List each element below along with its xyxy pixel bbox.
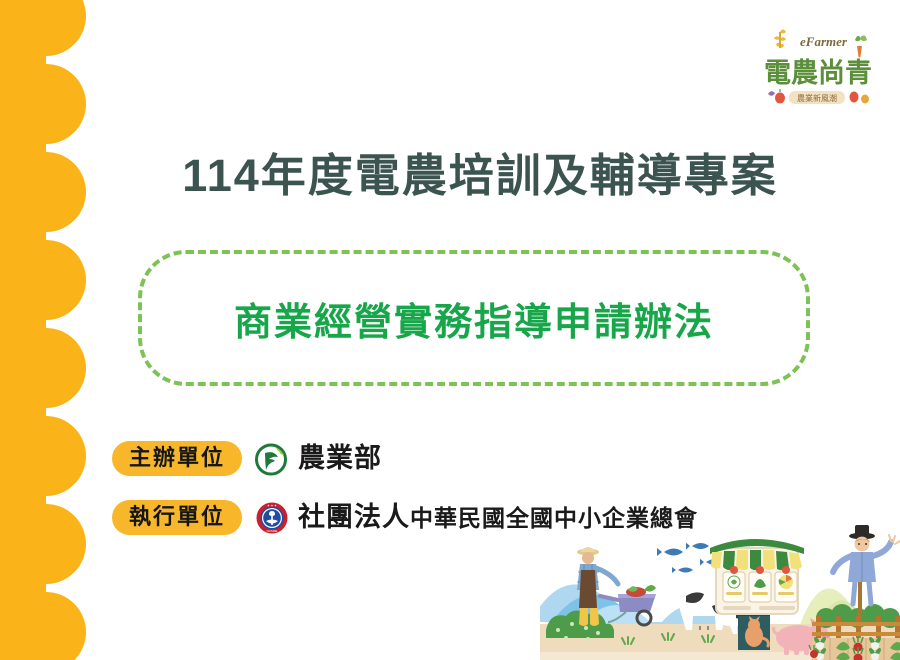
carrot-sprig-icon bbox=[855, 35, 867, 60]
subtitle-dashed-box: 商業經營實務指導申請辦法 bbox=[138, 250, 810, 386]
organizer-row: 主辦單位 農業部 bbox=[112, 441, 382, 476]
page-title: 114年度電農培訓及輔導專案 bbox=[0, 148, 900, 204]
svg-text:★ ★ ★: ★ ★ ★ bbox=[267, 503, 277, 507]
executing-org-name: 社團法人中華民國全國中小企業總會 bbox=[298, 504, 698, 531]
svg-text:農業新風潮: 農業新風潮 bbox=[797, 93, 837, 103]
wheat-sprout-icon bbox=[774, 30, 786, 49]
svg-text:NASME: NASME bbox=[267, 529, 278, 533]
executing-org-name-main: 社團法人 bbox=[298, 502, 410, 532]
organizer-badge: 主辦單位 bbox=[112, 441, 242, 476]
nasme-logo: ★ ★ ★ NASME bbox=[256, 502, 288, 534]
left-orange-band bbox=[0, 0, 46, 660]
poster-canvas: eFarmer 電農尚青 農業新風潮 bbox=[0, 0, 900, 660]
brand-characters: 電農尚青 bbox=[764, 58, 872, 89]
executing-org-name-sub: 中華民國全國中小企業總會 bbox=[410, 505, 698, 531]
vegetable-garden bbox=[809, 636, 900, 660]
moa-logo bbox=[254, 442, 288, 476]
svg-text:電農尚青: 電農尚青 bbox=[764, 58, 872, 89]
efarmer-logo: eFarmer 電農尚青 農業新風潮 bbox=[756, 24, 878, 110]
svg-text:eFarmer: eFarmer bbox=[800, 34, 848, 49]
executing-org-badge: 執行單位 bbox=[112, 500, 242, 535]
organizer-name: 農業部 bbox=[298, 445, 382, 472]
page-subtitle: 商業經營實務指導申請辦法 bbox=[234, 291, 714, 346]
executing-org-row: 執行單位 ★ ★ ★ NASME 社團法人中華民國全國中小企業總會 bbox=[112, 500, 698, 535]
tagline-ribbon: 農業新風潮 bbox=[789, 91, 845, 104]
kiosk-product-cards bbox=[723, 566, 797, 602]
